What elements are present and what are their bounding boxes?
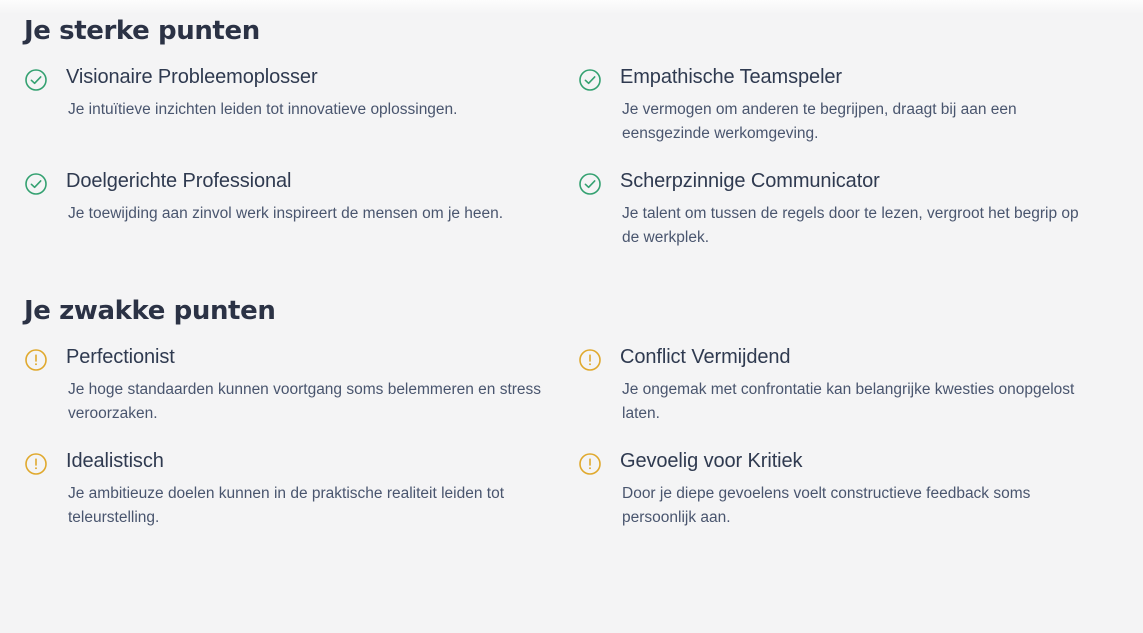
- strength-item-description: Je intuïtieve inzichten leiden tot innov…: [66, 98, 546, 122]
- check-circle-icon: [24, 68, 48, 92]
- strength-item-3[interactable]: Doelgerichte Professional Je toewijding …: [24, 168, 578, 274]
- weakness-item-1[interactable]: Perfectionist Je hoge standaarden kunnen…: [24, 344, 578, 448]
- weakness-item-title: Gevoelig voor Kritiek: [620, 448, 1093, 475]
- page-title-weaknesses: Je zwakke punten: [24, 296, 1119, 326]
- strength-item-title: Scherpzinnige Communicator: [620, 168, 1093, 195]
- strength-item-title: Empathische Teamspeler: [620, 64, 1093, 91]
- strength-item-title: Doelgerichte Professional: [66, 168, 552, 195]
- alert-circle-icon: [24, 452, 48, 476]
- strength-item-body: Visionaire Probleemoplosser Je intuïtiev…: [66, 64, 552, 122]
- strength-item-description: Je vermogen om anderen te begrijpen, dra…: [620, 98, 1093, 146]
- weakness-item-body: Gevoelig voor Kritiek Door je diepe gevo…: [620, 448, 1093, 530]
- weakness-item-description: Door je diepe gevoelens voelt constructi…: [620, 482, 1093, 530]
- weakness-item-title: Perfectionist: [66, 344, 552, 371]
- weakness-item-body: Idealistisch Je ambitieuze doelen kunnen…: [66, 448, 552, 530]
- weakness-item-title: Conflict Vermijdend: [620, 344, 1093, 371]
- strength-item-description: Je talent om tussen de regels door te le…: [620, 202, 1093, 250]
- weakness-item-body: Perfectionist Je hoge standaarden kunnen…: [66, 344, 552, 426]
- weaknesses-grid: Perfectionist Je hoge standaarden kunnen…: [24, 344, 1119, 554]
- alert-circle-icon: [578, 348, 602, 372]
- check-circle-icon: [578, 172, 602, 196]
- strength-item-description: Je toewijding aan zinvol werk inspireert…: [66, 202, 546, 226]
- strengths-grid: Visionaire Probleemoplosser Je intuïtiev…: [24, 64, 1119, 274]
- alert-circle-icon: [578, 452, 602, 476]
- weakness-item-2[interactable]: Conflict Vermijdend Je ongemak met confr…: [578, 344, 1119, 448]
- strength-item-body: Scherpzinnige Communicator Je talent om …: [620, 168, 1093, 250]
- check-circle-icon: [578, 68, 602, 92]
- strength-item-title: Visionaire Probleemoplosser: [66, 64, 552, 91]
- page-title-strengths: Je sterke punten: [24, 16, 1119, 46]
- weakness-item-description: Je hoge standaarden kunnen voortgang som…: [66, 378, 546, 426]
- strength-item-1[interactable]: Visionaire Probleemoplosser Je intuïtiev…: [24, 64, 578, 168]
- weakness-item-description: Je ambitieuze doelen kunnen in de prakti…: [66, 482, 546, 530]
- alert-circle-icon: [24, 348, 48, 372]
- strength-item-2[interactable]: Empathische Teamspeler Je vermogen om an…: [578, 64, 1119, 168]
- weakness-item-3[interactable]: Idealistisch Je ambitieuze doelen kunnen…: [24, 448, 578, 554]
- section-weaknesses: Je zwakke punten Perfectionist Je hoge s…: [24, 274, 1119, 554]
- weakness-item-4[interactable]: Gevoelig voor Kritiek Door je diepe gevo…: [578, 448, 1119, 554]
- strengths-weaknesses-page: Je sterke punten Visionaire Probleemoplo…: [0, 0, 1143, 554]
- section-strengths: Je sterke punten Visionaire Probleemoplo…: [24, 0, 1119, 274]
- strength-item-4[interactable]: Scherpzinnige Communicator Je talent om …: [578, 168, 1119, 274]
- weakness-item-title: Idealistisch: [66, 448, 552, 475]
- weakness-item-body: Conflict Vermijdend Je ongemak met confr…: [620, 344, 1093, 426]
- strength-item-body: Doelgerichte Professional Je toewijding …: [66, 168, 552, 226]
- check-circle-icon: [24, 172, 48, 196]
- strength-item-body: Empathische Teamspeler Je vermogen om an…: [620, 64, 1093, 146]
- weakness-item-description: Je ongemak met confrontatie kan belangri…: [620, 378, 1093, 426]
